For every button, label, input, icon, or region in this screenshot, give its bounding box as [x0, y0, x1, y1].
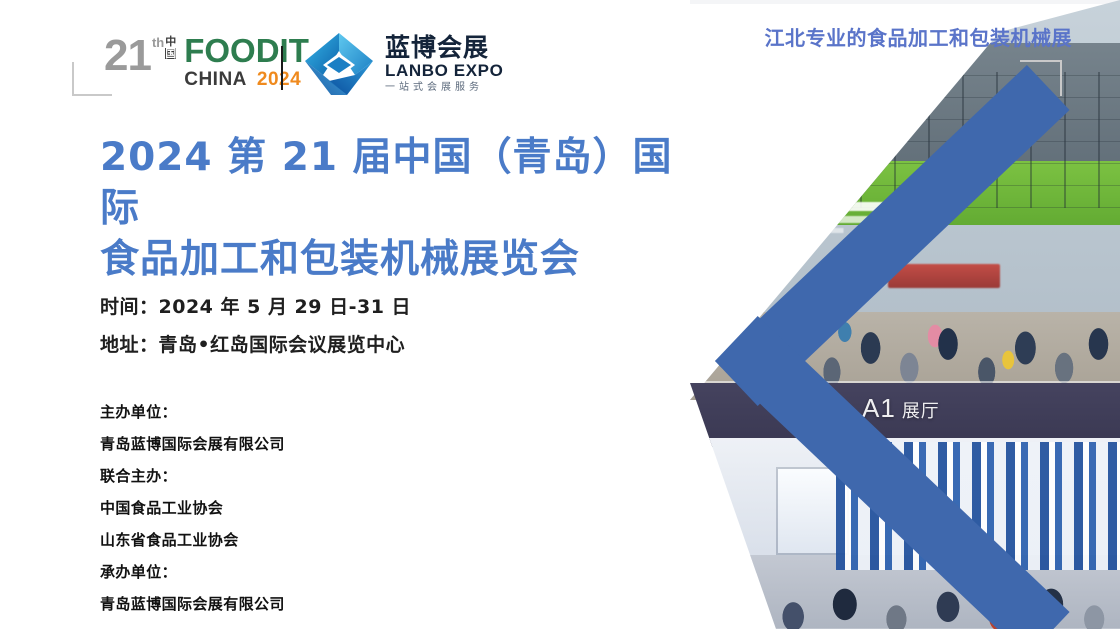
foodit-seal-icon: 中 国	[165, 36, 176, 59]
foodit-wordmark-group: FOODIT CHINA 2024	[184, 34, 309, 91]
hall-code: A1	[862, 393, 896, 423]
tagline: 江北专业的食品加工和包装机械展	[765, 22, 1073, 51]
foodit-year: 2024	[257, 69, 301, 91]
event-meta: 时间：2024 年 5 月 29 日-31 日 地址：青岛•红岛国际会议展览中心	[100, 288, 660, 364]
registration-hall-sign	[888, 264, 1000, 288]
foodit-seal-bottom: 国	[165, 48, 176, 59]
foodit-edition-number: 21	[104, 34, 151, 78]
lanbo-slogan: 一站式会展服务	[385, 81, 503, 94]
lanbo-en-name: LANBO EXPO	[385, 61, 503, 80]
hall-label-cn: 展厅	[902, 401, 940, 421]
organizer-heading-cohost: 联合主办：	[100, 460, 620, 492]
page-title-line-1: 2024 第 21 届中国（青岛）国际	[100, 132, 710, 234]
page-title-line-2: 食品加工和包装机械展览会	[100, 234, 710, 285]
organizer-heading-host: 主办单位：	[100, 396, 620, 428]
hall-a1-label: A1展厅	[862, 393, 940, 424]
organizer-host-name: 青岛蓝博国际会展有限公司	[100, 428, 620, 460]
event-date: 时间：2024 年 5 月 29 日-31 日	[100, 288, 660, 326]
logo-foodit-china[interactable]: 21 th 中 国 FOODIT CHINA 2024	[104, 34, 309, 90]
foodit-wordmark: FOODIT	[184, 34, 309, 67]
corner-bracket-right-icon	[1020, 60, 1062, 96]
lanbo-cn-name: 蓝博会展	[385, 34, 503, 61]
organizer-cohost-2: 山东省食品工业协会	[100, 524, 620, 556]
organizer-cohost-1: 中国食品工业协会	[100, 492, 620, 524]
logo-divider	[281, 46, 283, 90]
foodit-seal-top: 中	[165, 36, 176, 47]
foodit-edition-ordinal: th	[152, 36, 164, 49]
organizer-block: 主办单位： 青岛蓝博国际会展有限公司 联合主办： 中国食品工业协会 山东省食品工…	[100, 396, 620, 620]
organizer-heading-undertaker: 承办单位：	[100, 556, 620, 588]
organizer-undertaker-name: 青岛蓝博国际会展有限公司	[100, 588, 620, 620]
event-venue: 地址：青岛•红岛国际会议展览中心	[100, 326, 660, 364]
logo-lanbo-expo[interactable]: 蓝博会展 LANBO EXPO 一站式会展服务	[303, 28, 503, 100]
page-title: 2024 第 21 届中国（青岛）国际 食品加工和包装机械展览会	[100, 132, 710, 285]
foodit-subline: CHINA 2024	[184, 69, 309, 91]
foodit-country: CHINA	[184, 69, 247, 91]
lanbo-diamond-icon	[303, 31, 375, 97]
poster-canvas: A1展厅 21 th 中 国 FOODIT CHINA 2024	[0, 0, 1120, 629]
lanbo-text-group: 蓝博会展 LANBO EXPO 一站式会展服务	[385, 34, 503, 94]
